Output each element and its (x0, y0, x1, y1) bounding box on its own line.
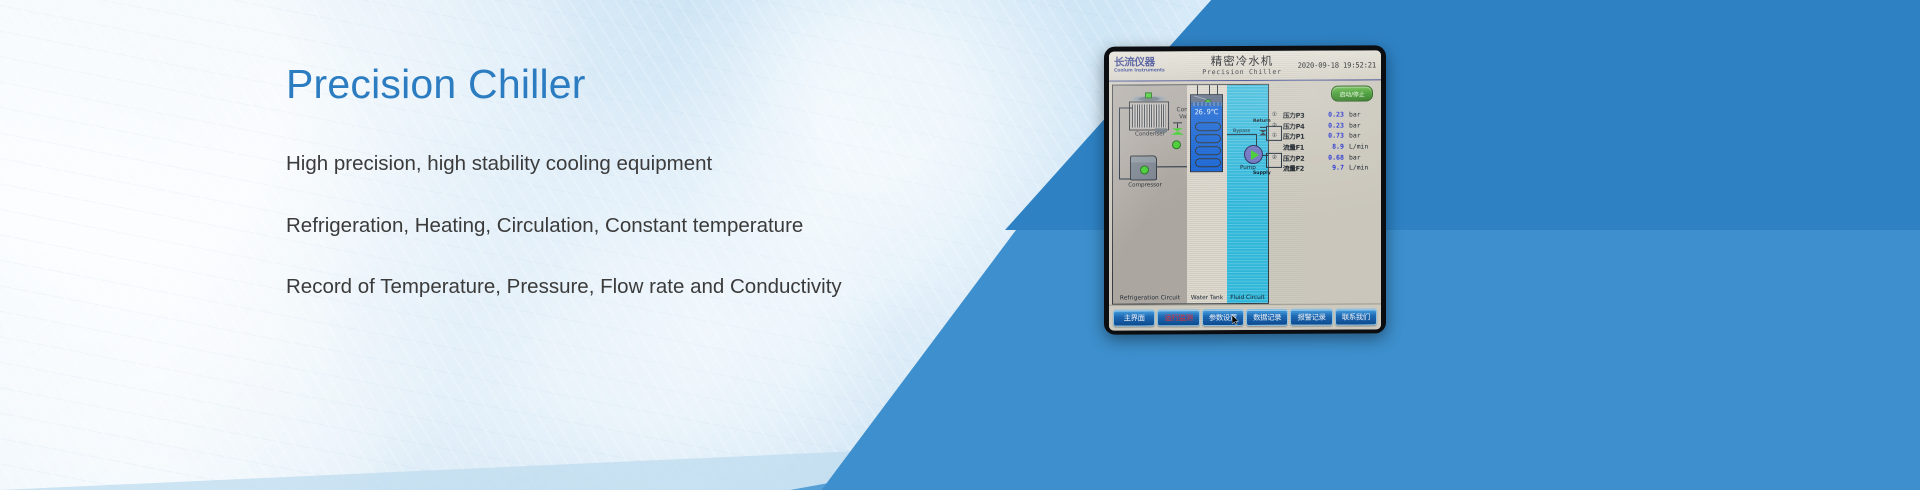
refrigerant-pipe-left (1119, 108, 1120, 180)
valve-status-led (1172, 140, 1181, 149)
control-valve-icon (1171, 126, 1184, 135)
fan-status-led (1145, 92, 1152, 98)
feature-line-2: Refrigeration, Heating, Circulation, Con… (286, 214, 926, 239)
readout-unit: bar (1344, 111, 1378, 119)
feature-line-1: High precision, high stability cooling e… (286, 152, 926, 177)
bypass-label: Bypass (1233, 129, 1250, 134)
readout-marker: ① (1272, 112, 1283, 118)
refrigerant-pipe-top (1119, 107, 1133, 108)
readout-row: 流量F18.9L/min (1272, 141, 1378, 152)
water-surface (1191, 102, 1222, 106)
process-schematic: Condenser Control Valve Compressor (1112, 84, 1269, 305)
readout-tag: 压力P3 (1283, 110, 1318, 120)
hmi-screen: 长流仪器 Coolum Instruments 精密冷水机 Precision … (1109, 50, 1381, 330)
readout-unit: bar (1344, 153, 1378, 161)
nav-button-1[interactable]: 主界面 (1113, 309, 1155, 326)
readout-row: ①压力P30.23bar (1272, 109, 1378, 120)
readout-rows: ①压力P30.23bar②压力P40.23bar①压力P10.73bar流量F1… (1271, 109, 1378, 173)
banner-copy: Precision Chiller High precision, high s… (286, 62, 926, 300)
compressor-icon (1130, 155, 1157, 180)
brand-name-en: Coolum Instruments (1114, 68, 1192, 74)
readout-unit: bar (1344, 121, 1378, 129)
brand-name-cn: 长流仪器 (1114, 57, 1192, 68)
hmi-main-area: Condenser Control Valve Compressor (1109, 80, 1381, 304)
readout-marker: ② (1272, 123, 1283, 129)
hmi-title-cn: 精密冷水机 (1192, 55, 1292, 68)
pump-label: Pump (1240, 165, 1256, 171)
hmi-touch-panel-device: 长流仪器 Coolum Instruments 精密冷水机 Precision … (1104, 45, 1386, 334)
return-line (1227, 134, 1257, 135)
tank-temperature-readout: 26.9℃ (1191, 108, 1222, 116)
start-stop-button[interactable]: 启动/停止 (1331, 85, 1373, 101)
readout-marker: ② (1272, 155, 1283, 161)
refrigerant-pipe-suction (1157, 166, 1187, 168)
start-stop-label: 启动/停止 (1339, 89, 1364, 98)
readout-value: 0.73 (1318, 132, 1344, 140)
nav-button-6[interactable]: 联系我们 (1335, 308, 1377, 325)
valve-handle-stem (1177, 123, 1178, 128)
bypass-valve-icon (1259, 129, 1267, 136)
coil-turn-4 (1195, 158, 1221, 167)
measurement-readout-panel: 启动/停止 ①压力P30.23bar②压力P40.23bar①压力P10.73b… (1269, 83, 1378, 303)
nav-button-2[interactable]: 运行监测 (1157, 309, 1199, 326)
readout-value: 0.23 (1318, 111, 1344, 119)
readout-row: 流量F29.7L/min (1272, 162, 1378, 173)
readout-tag: 流量F1 (1283, 142, 1318, 152)
compressor-label: Compressor (1113, 182, 1177, 188)
feature-line-3: Record of Temperature, Pressure, Flow ra… (286, 275, 926, 300)
condenser-fins (1132, 104, 1166, 127)
hmi-timestamp: 2020-09-18 19:52:21 (1292, 60, 1376, 69)
refrigerant-pipe-bottom (1119, 178, 1131, 179)
page-title: Precision Chiller (286, 62, 926, 107)
bypass-valve-bowtie (1259, 130, 1267, 136)
nav-button-label: 报警记录 (1297, 312, 1325, 323)
nav-button-label: 主界面 (1124, 312, 1145, 323)
readout-row: ②压力P40.23bar (1272, 120, 1378, 131)
readout-tag: 压力P2 (1283, 152, 1318, 162)
water-tank-zone: 26.9℃ Water Tank (1187, 85, 1227, 303)
nav-button-5[interactable]: 报警记录 (1290, 309, 1332, 326)
bypass-valve-cap (1260, 126, 1266, 127)
readout-value: 0.23 (1318, 121, 1344, 129)
mouse-cursor-icon (1232, 315, 1239, 325)
nav-button-label: 运行监测 (1165, 312, 1193, 323)
nav-button-4[interactable]: 数据记录 (1246, 309, 1288, 326)
refrigeration-circuit-zone: Condenser Control Valve Compressor (1113, 85, 1187, 303)
water-tank-label: Water Tank (1187, 295, 1227, 301)
readout-row: ①压力P10.73bar (1272, 131, 1378, 142)
readout-row: ②压力P20.68bar (1272, 152, 1378, 163)
fluid-circuit-zone: Return Supply Bypass (1227, 85, 1268, 303)
hmi-title-block: 精密冷水机 Precision Chiller (1192, 55, 1292, 76)
water-tank-icon: 26.9℃ (1190, 94, 1223, 172)
pump-icon (1244, 145, 1263, 164)
compressor-status-led (1140, 165, 1149, 174)
readout-tag: 压力P1 (1283, 131, 1318, 141)
readout-unit: L/min (1344, 164, 1378, 172)
nav-button-label: 联系我们 (1342, 311, 1370, 322)
readout-unit: bar (1344, 132, 1378, 140)
hmi-navigation-bar: 主界面运行监测参数设置数据记录报警记录联系我们 (1109, 303, 1381, 330)
coil-turn-1 (1195, 122, 1221, 131)
readout-value: 0.68 (1318, 153, 1344, 161)
brand-logo: 长流仪器 Coolum Instruments (1114, 57, 1192, 74)
fluid-circuit-label: Fluid Circuit (1227, 295, 1268, 301)
coil-turn-2 (1195, 134, 1221, 143)
refrigeration-circuit-label: Refrigeration Circuit (1113, 295, 1187, 301)
nav-button-label: 数据记录 (1253, 312, 1281, 323)
hmi-header-bar: 长流仪器 Coolum Instruments 精密冷水机 Precision … (1109, 50, 1381, 81)
readout-marker: ① (1272, 133, 1283, 139)
readout-value: 9.7 (1318, 164, 1344, 172)
readout-value: 8.9 (1318, 143, 1344, 151)
evaporator-coil-icon (1195, 122, 1221, 170)
pump-impeller-arrow (1251, 149, 1259, 159)
readout-tag: 流量F2 (1283, 163, 1318, 173)
condenser-icon (1129, 101, 1169, 130)
readout-tag: 压力P4 (1283, 121, 1318, 131)
valve-bowtie (1171, 128, 1184, 135)
readout-unit: L/min (1344, 142, 1378, 150)
coil-turn-3 (1195, 146, 1221, 155)
hmi-title-en: Precision Chiller (1192, 68, 1292, 76)
return-label: Return (1253, 119, 1271, 124)
